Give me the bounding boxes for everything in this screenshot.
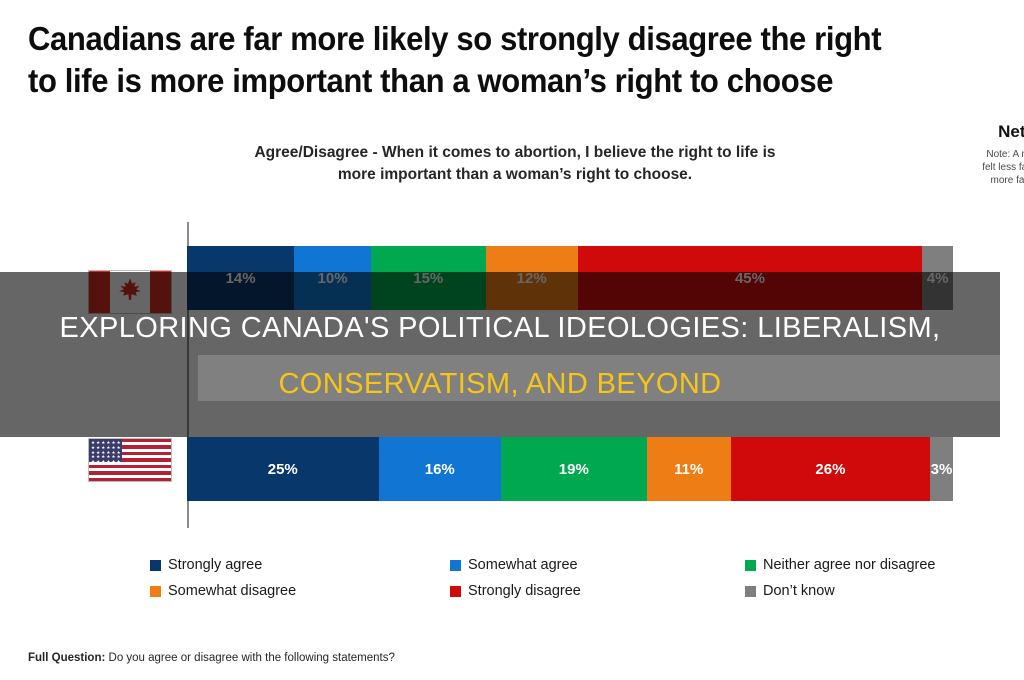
- legend-item-somewhat-agree[interactable]: Somewhat agree: [450, 552, 745, 578]
- legend-label: Somewhat agree: [468, 557, 578, 573]
- legend-label: Don’t know: [763, 583, 835, 599]
- bar-segment-label: 11%: [674, 461, 703, 478]
- bar-segment-somewhat-agree[interactable]: 16%: [379, 437, 502, 501]
- legend-item-somewhat-disagree[interactable]: Somewhat disagree: [150, 578, 450, 604]
- bar-segment-somewhat-disagree[interactable]: 11%: [647, 437, 731, 501]
- overlay-line-2: CONSERVATISM, AND BEYOND: [0, 356, 1000, 412]
- bar-segment-label: 3%: [931, 461, 953, 478]
- legend-swatch-icon: [745, 586, 756, 597]
- legend-label: Strongly agree: [168, 557, 262, 573]
- full-question-text: Do you agree or disagree with the follow…: [105, 652, 395, 664]
- legend-item-strongly-disagree[interactable]: Strongly disagree: [450, 578, 745, 604]
- legend-item-neither[interactable]: Neither agree nor disagree: [745, 552, 960, 578]
- legend-label: Neither agree nor disagree: [763, 557, 936, 573]
- bar-segment-label: 16%: [425, 461, 455, 478]
- full-question-footer: Full Question: Do you agree or disagree …: [28, 652, 395, 664]
- title-overlay-text: EXPLORING CANADA'S POLITICAL IDEOLOGIES:…: [0, 300, 1000, 412]
- legend-label: Strongly disagree: [468, 583, 581, 599]
- full-question-label: Full Question:: [28, 652, 105, 664]
- legend-swatch-icon: [150, 560, 161, 571]
- overlay-line-1: EXPLORING CANADA'S POLITICAL IDEOLOGIES:…: [0, 300, 1000, 356]
- bar-segment-label: 25%: [268, 461, 298, 478]
- bar-segment-dont-know[interactable]: 3%: [930, 437, 953, 501]
- legend-item-strongly-agree[interactable]: Strongly agree: [150, 552, 450, 578]
- bar-segment-label: 19%: [559, 461, 589, 478]
- bar-segment-label: 26%: [815, 461, 845, 478]
- chart-legend: Strongly agree Somewhat agree Neither ag…: [150, 552, 960, 604]
- bar-segment-neither[interactable]: 19%: [501, 437, 647, 501]
- legend-swatch-icon: [450, 586, 461, 597]
- legend-item-dont-know[interactable]: Don’t know: [745, 578, 960, 604]
- usa-stacked-bar[interactable]: 25% 16% 19% 11% 26% 3%: [187, 437, 953, 501]
- bar-segment-strongly-agree[interactable]: 25%: [187, 437, 379, 501]
- bar-segment-strongly-disagree[interactable]: 26%: [731, 437, 930, 501]
- legend-label: Somewhat disagree: [168, 583, 296, 599]
- usa-flag-icon: ★★★★★★★★★★★★★★★★★★★★★★★★★★★★★★★★★★★★★★★★…: [88, 438, 172, 482]
- legend-swatch-icon: [745, 560, 756, 571]
- legend-swatch-icon: [150, 586, 161, 597]
- legend-swatch-icon: [450, 560, 461, 571]
